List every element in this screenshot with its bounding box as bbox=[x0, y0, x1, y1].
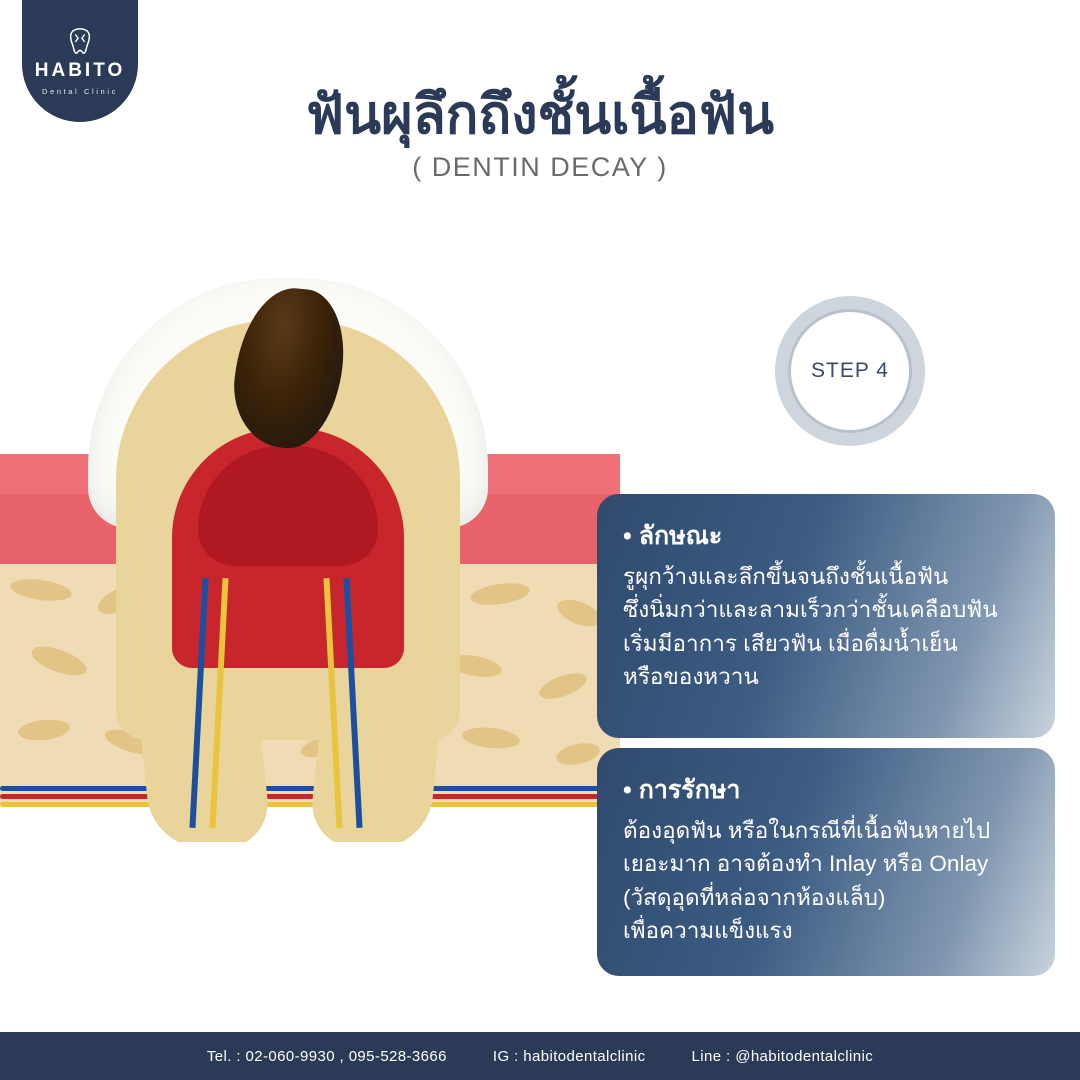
page-title-english: ( DENTIN DECAY ) bbox=[0, 152, 1080, 183]
card-heading: • การรักษา bbox=[623, 770, 1029, 810]
page-title-block: ฟันผุลึกถึงชั้นเนื้อฟัน ( DENTIN DECAY ) bbox=[0, 84, 1080, 183]
info-card-treatment: • การรักษา ต้องอุดฟัน หรือในกรณีที่เนื้อ… bbox=[597, 748, 1055, 976]
step-badge: STEP 4 bbox=[775, 296, 925, 446]
footer-instagram[interactable]: IG : habitodentalclinic bbox=[493, 1048, 646, 1065]
card-line: รูผุกว้างและลึกขึ้นจนถึงชั้นเนื้อฟัน bbox=[623, 560, 1029, 593]
tooth-body bbox=[88, 278, 488, 838]
card-heading: • ลักษณะ bbox=[623, 516, 1029, 556]
tooth-logo-icon bbox=[65, 26, 95, 56]
card-line: (วัสดุอุดที่หล่อจากห้องแล็บ) bbox=[623, 881, 1029, 914]
card-line: เริ่มมีอาการ เสียวฟัน เมื่อดื่มน้ำเย็น bbox=[623, 627, 1029, 660]
contact-footer: Tel. : 02-060-9930 , 095-528-3666 IG : h… bbox=[0, 1032, 1080, 1080]
card-line: ซึ่งนิ่มกว่าและลามเร็วกว่าชั้นเคลือบฟัน bbox=[623, 593, 1029, 626]
tooth-illustration bbox=[0, 258, 620, 842]
card-body: ต้องอุดฟัน หรือในกรณีที่เนื้อฟันหายไป เย… bbox=[623, 814, 1029, 947]
card-line: เยอะมาก อาจต้องทำ Inlay หรือ Onlay bbox=[623, 847, 1029, 880]
brand-name: HABITO bbox=[35, 60, 125, 82]
info-card-characteristics: • ลักษณะ รูผุกว้างและลึกขึ้นจนถึงชั้นเนื… bbox=[597, 494, 1055, 738]
page-title-thai: ฟันผุลึกถึงชั้นเนื้อฟัน bbox=[0, 84, 1080, 146]
footer-line[interactable]: Line : @habitodentalclinic bbox=[692, 1048, 874, 1065]
step-label: STEP 4 bbox=[788, 309, 912, 433]
card-line: หรือของหวาน bbox=[623, 660, 1029, 693]
footer-phone: Tel. : 02-060-9930 , 095-528-3666 bbox=[207, 1048, 447, 1065]
card-body: รูผุกว้างและลึกขึ้นจนถึงชั้นเนื้อฟัน ซึ่… bbox=[623, 560, 1029, 693]
card-line: ต้องอุดฟัน หรือในกรณีที่เนื้อฟันหายไป bbox=[623, 814, 1029, 847]
card-line: เพื่อความแข็งแรง bbox=[623, 914, 1029, 947]
